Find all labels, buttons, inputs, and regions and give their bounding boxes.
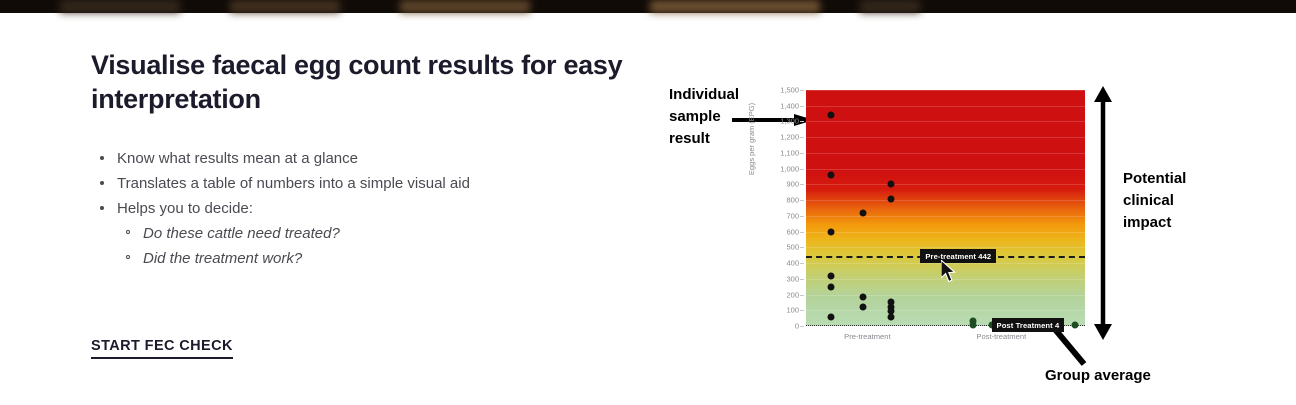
y-axis-label: Eggs per gram (EPG) [747,103,756,175]
page-title: Visualise faecal egg count results for e… [91,48,636,116]
hero-image-strip [0,0,1296,13]
y-axis-tick-label: 200 [786,290,799,299]
y-axis-tick-label: 800 [786,196,799,205]
list-item: Did the treatment work? [117,246,646,271]
circle-bullet-icon [126,230,130,234]
y-axis-tick-mark [800,232,804,233]
start-fec-check-link[interactable]: START FEC CHECK [91,338,233,359]
gridline [806,200,1085,201]
gridline [806,184,1085,185]
y-axis-ticks: 01002003004005006007008009001,0001,1001,… [764,84,804,331]
y-axis-tick-label: 500 [786,243,799,252]
data-point[interactable] [970,321,977,328]
data-point[interactable] [888,195,895,202]
post-treatment-average-label: Post Treatment 4 [992,318,1065,332]
y-axis-tick-label: 1,300 [780,117,799,126]
pre-treatment-average-label: Pre-treatment 442 [920,249,996,263]
y-axis-tick-label: 100 [786,306,799,315]
y-axis-tick-mark [800,137,804,138]
y-axis-tick-label: 1,400 [780,101,799,110]
y-axis-tick-label: 400 [786,259,799,268]
list-item: Do these cattle need treated? [117,221,646,246]
x-axis-tick-label: Post-treatment [976,332,1026,341]
gridline [806,310,1085,311]
y-axis-tick-mark [800,326,804,327]
data-point[interactable] [860,304,867,311]
list-item: Helps you to decide: Do these cattle nee… [91,196,646,271]
benefits-sublist: Do these cattle need treated? Did the tr… [117,221,646,271]
circle-bullet-icon [126,255,130,259]
data-point[interactable] [828,171,835,178]
y-axis-tick-mark [800,310,804,311]
benefits-list: Know what results mean at a glance Trans… [91,146,646,271]
y-axis-tick-label: 700 [786,211,799,220]
y-axis-tick-label: 1,200 [780,133,799,142]
bullet-icon [100,156,104,160]
y-axis-tick-mark [800,121,804,122]
data-point[interactable] [828,272,835,279]
y-axis-tick-label: 1,000 [780,164,799,173]
gridline [806,216,1085,217]
y-axis-tick-mark [800,279,804,280]
gridline [806,169,1085,170]
y-axis-tick-label: 600 [786,227,799,236]
x-axis-tick-label: Pre-treatment [844,332,890,341]
data-point[interactable] [888,181,895,188]
y-axis-tick-label: 900 [786,180,799,189]
y-axis-tick-mark [800,216,804,217]
list-item-label: Know what results mean at a glance [117,150,358,167]
gridline [806,137,1085,138]
data-point[interactable] [1072,322,1079,329]
data-point[interactable] [828,228,835,235]
gridline [806,106,1085,107]
y-axis-tick-label: 1,100 [780,148,799,157]
bullet-icon [100,206,104,210]
gridline [806,247,1085,248]
gridline [806,90,1085,91]
y-axis-tick-mark [800,184,804,185]
list-item: Translates a table of numbers into a sim… [91,171,646,196]
mouse-cursor-icon [941,260,957,284]
data-point[interactable] [860,209,867,216]
arrow-double-vertical-icon [1092,86,1114,340]
bullet-icon [100,181,104,185]
list-item: Know what results mean at a glance [91,146,646,171]
y-axis-tick-mark [800,169,804,170]
promo-text-column: Visualise faecal egg count results for e… [91,48,646,271]
x-axis-ticks: Pre-treatmentPost-treatment [806,332,1085,346]
gridline [806,295,1085,296]
data-point[interactable] [828,313,835,320]
y-axis-tick-mark [800,263,804,264]
y-axis-tick-mark [800,247,804,248]
gridline [806,153,1085,154]
y-axis-tick-label: 300 [786,274,799,283]
y-axis-tick-mark [800,295,804,296]
list-item-label: Helps you to decide: [117,200,253,217]
y-axis-tick-label: 0 [795,322,799,331]
y-axis-tick-mark [800,90,804,91]
gridline [806,232,1085,233]
list-item-label: Do these cattle need treated? [143,225,340,242]
list-item-label: Translates a table of numbers into a sim… [117,175,470,192]
list-item-label: Did the treatment work? [143,250,302,267]
y-axis-tick-mark [800,153,804,154]
data-point[interactable] [828,112,835,119]
gridline [806,121,1085,122]
data-point[interactable] [860,293,867,300]
y-axis-tick-mark [800,200,804,201]
plot-area: Pre-treatment 442Post Treatment 4 [806,90,1085,326]
fec-chart-figure: Individual sample result Potential clini… [660,70,1296,400]
annotation-potential-clinical-impact: Potential clinical impact [1123,168,1209,234]
y-axis-tick-label: 1,500 [780,86,799,95]
data-point[interactable] [828,283,835,290]
data-point[interactable] [888,314,895,321]
y-axis-tick-mark [800,106,804,107]
